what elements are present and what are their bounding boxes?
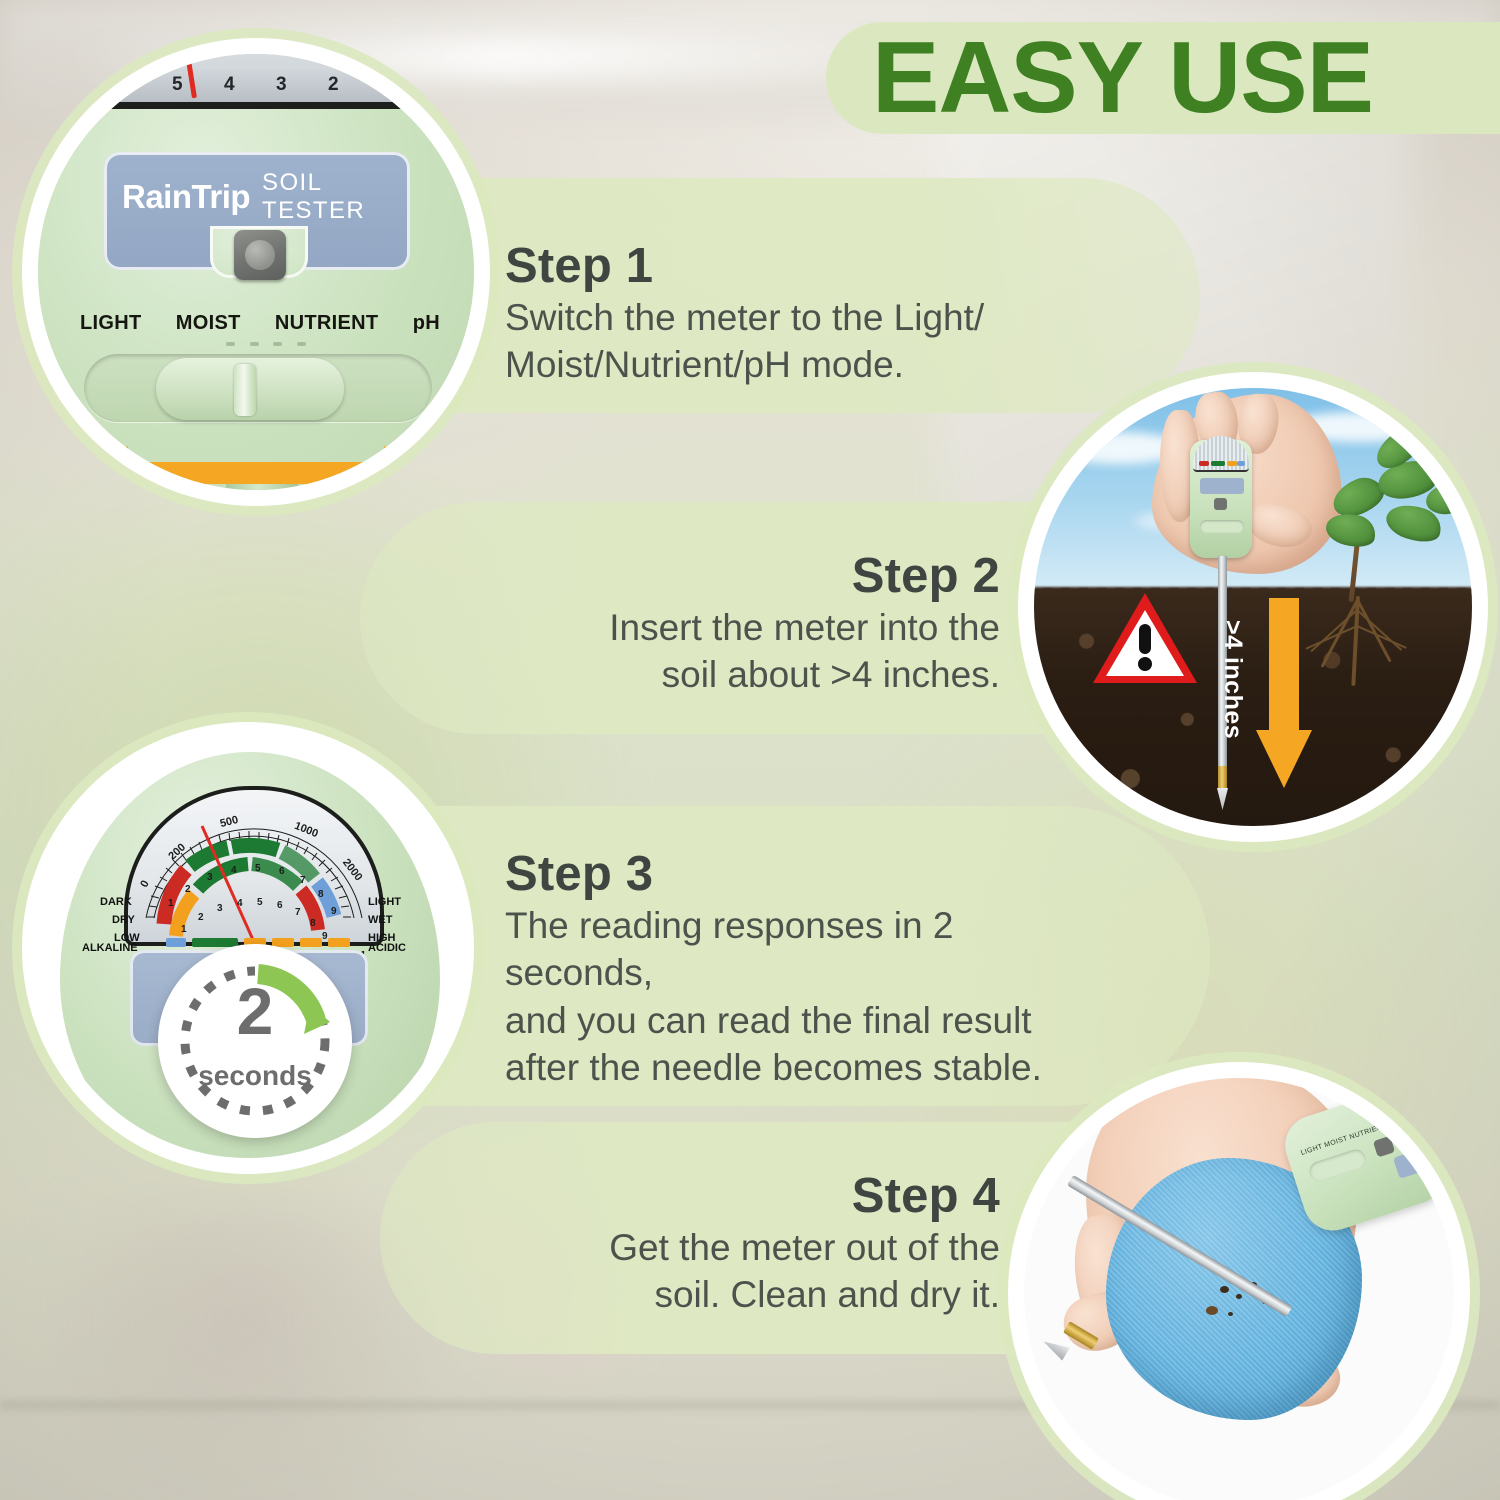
gauge-num-a-4: 4 — [231, 865, 237, 876]
step-1-body-line-1: Switch the meter to the Light/ — [505, 294, 1025, 341]
timer-unit: seconds — [158, 1060, 352, 1092]
gauge-num-b-1: 1 — [181, 924, 187, 935]
gauge-label-light: LIGHT — [368, 896, 401, 908]
step-3-text-block: Step 3 The reading responses in 2 second… — [505, 846, 1105, 1091]
meter-power-button[interactable] — [234, 230, 286, 280]
gauge-num-a-1: 1 — [168, 898, 174, 909]
gauge-num-b-7: 7 — [295, 907, 301, 918]
step-1-body-line-2: Moist/Nutrient/pH mode. — [505, 341, 1025, 388]
timer-value: 2 — [158, 978, 352, 1044]
gauge-num-a-3: 3 — [207, 872, 213, 883]
timer-badge: 2 seconds — [158, 944, 352, 1138]
step-3-photo: 0 200 500 1000 2000 1 2 3 4 5 6 7 8 9 1 … — [38, 738, 458, 1158]
gauge-num-a-8: 8 — [318, 889, 324, 900]
step-4-photo: LIGHT MOIST NUTRIENT pH — [1024, 1078, 1454, 1500]
meter-label-small — [1200, 478, 1244, 494]
mode-label-nutrient: NUTRIENT — [275, 312, 379, 335]
gauge-num-a-5: 5 — [255, 863, 261, 874]
step-1-text-block: Step 1 Switch the meter to the Light/ Mo… — [505, 238, 1025, 389]
step-2-photo: >4 inches — [1034, 388, 1472, 826]
gauge-label-acidic: ACIDIC — [368, 942, 406, 954]
gauge-num-b-8: 8 — [310, 918, 316, 929]
step-1-photo: 6 5 4 3 2 RainTrip SOIL TESTER LIGHT MOI… — [38, 54, 474, 490]
meter-needle — [186, 62, 197, 98]
depth-label: >4 inches — [1218, 620, 1247, 770]
gauge-num-b-2: 2 — [198, 912, 204, 923]
meter-probe-tip-cleaning — [1040, 1334, 1070, 1360]
depth-arrow-icon — [1256, 598, 1312, 788]
meter-dial-edge: 6 5 4 3 2 — [84, 54, 434, 109]
infographic-canvas: EASY USE Step 1 Switch the meter to the … — [0, 0, 1500, 1500]
step-4-body-line-1: Get the meter out of the — [520, 1224, 1000, 1271]
gauge-label-wet: WET — [368, 914, 392, 926]
step-3-body-line-2: and you can read the final result — [505, 997, 1105, 1044]
mode-label-light: LIGHT — [80, 312, 142, 335]
mode-label-moist: MOIST — [176, 312, 241, 335]
warning-triangle-icon — [1090, 590, 1200, 686]
page-title: EASY USE — [872, 18, 1500, 138]
step-3-body-line-1: The reading responses in 2 seconds, — [505, 902, 1105, 997]
mode-label-row: LIGHT MOIST NUTRIENT pH — [80, 312, 440, 335]
step-4-body-line-2: soil. Clean and dry it. — [520, 1271, 1000, 1318]
step-4-body: Get the meter out of the soil. Clean and… — [520, 1224, 1000, 1319]
brand-lockup: RainTrip SOIL TESTER — [122, 174, 397, 220]
step-4-text-block: Step 4 Get the meter out of the soil. Cl… — [520, 1168, 1000, 1319]
meter-switch-small — [1200, 520, 1244, 533]
gauge-num-b-3: 3 — [217, 903, 223, 914]
mode-slider-grip[interactable] — [234, 364, 256, 416]
step-2-body-line-1: Insert the meter into the — [520, 604, 1000, 651]
gauge-num-b-6: 6 — [277, 900, 283, 911]
step-4-heading: Step 4 — [520, 1168, 1000, 1224]
slider-detents — [226, 342, 306, 346]
slide-direction-arrow-icon — [66, 446, 446, 490]
gauge-label-dark: DARK — [100, 896, 132, 908]
brand-subtitle: SOIL TESTER — [262, 169, 397, 225]
brand-name: RainTrip — [122, 178, 250, 216]
meter-button-small — [1214, 498, 1227, 510]
gauge-num-a-6: 6 — [279, 866, 285, 877]
gauge-num-a-7: 7 — [300, 875, 306, 886]
step-2-text-block: Step 2 Insert the meter into the soil ab… — [520, 548, 1000, 699]
meter-button-cleaning — [1373, 1136, 1395, 1158]
mode-label-ph: pH — [413, 312, 440, 335]
step-3-body: The reading responses in 2 seconds, and … — [505, 902, 1105, 1091]
gauge-num-a-2: 2 — [185, 884, 191, 895]
gauge-face: 0 200 500 1000 2000 1 2 3 4 5 6 7 8 9 1 … — [124, 786, 384, 946]
step-3-body-line-3: after the needle becomes stable. — [505, 1044, 1105, 1091]
gauge-num-a-9: 9 — [331, 906, 337, 917]
step-1-body: Switch the meter to the Light/ Moist/Nut… — [505, 294, 1025, 389]
gauge-label-dry: DRY — [112, 914, 135, 926]
step-3-heading: Step 3 — [505, 846, 1105, 902]
step-2-body: Insert the meter into the soil about >4 … — [520, 604, 1000, 699]
gauge-label-alkaline: ALKALINE — [82, 942, 138, 954]
gauge-num-b-5: 5 — [257, 897, 263, 908]
step-1-heading: Step 1 — [505, 238, 1025, 294]
meter-switch-cleaning — [1307, 1147, 1368, 1184]
step-2-heading: Step 2 — [520, 548, 1000, 604]
step-2-body-line-2: soil about >4 inches. — [520, 651, 1000, 698]
gauge-num-b-4: 4 — [237, 898, 243, 909]
